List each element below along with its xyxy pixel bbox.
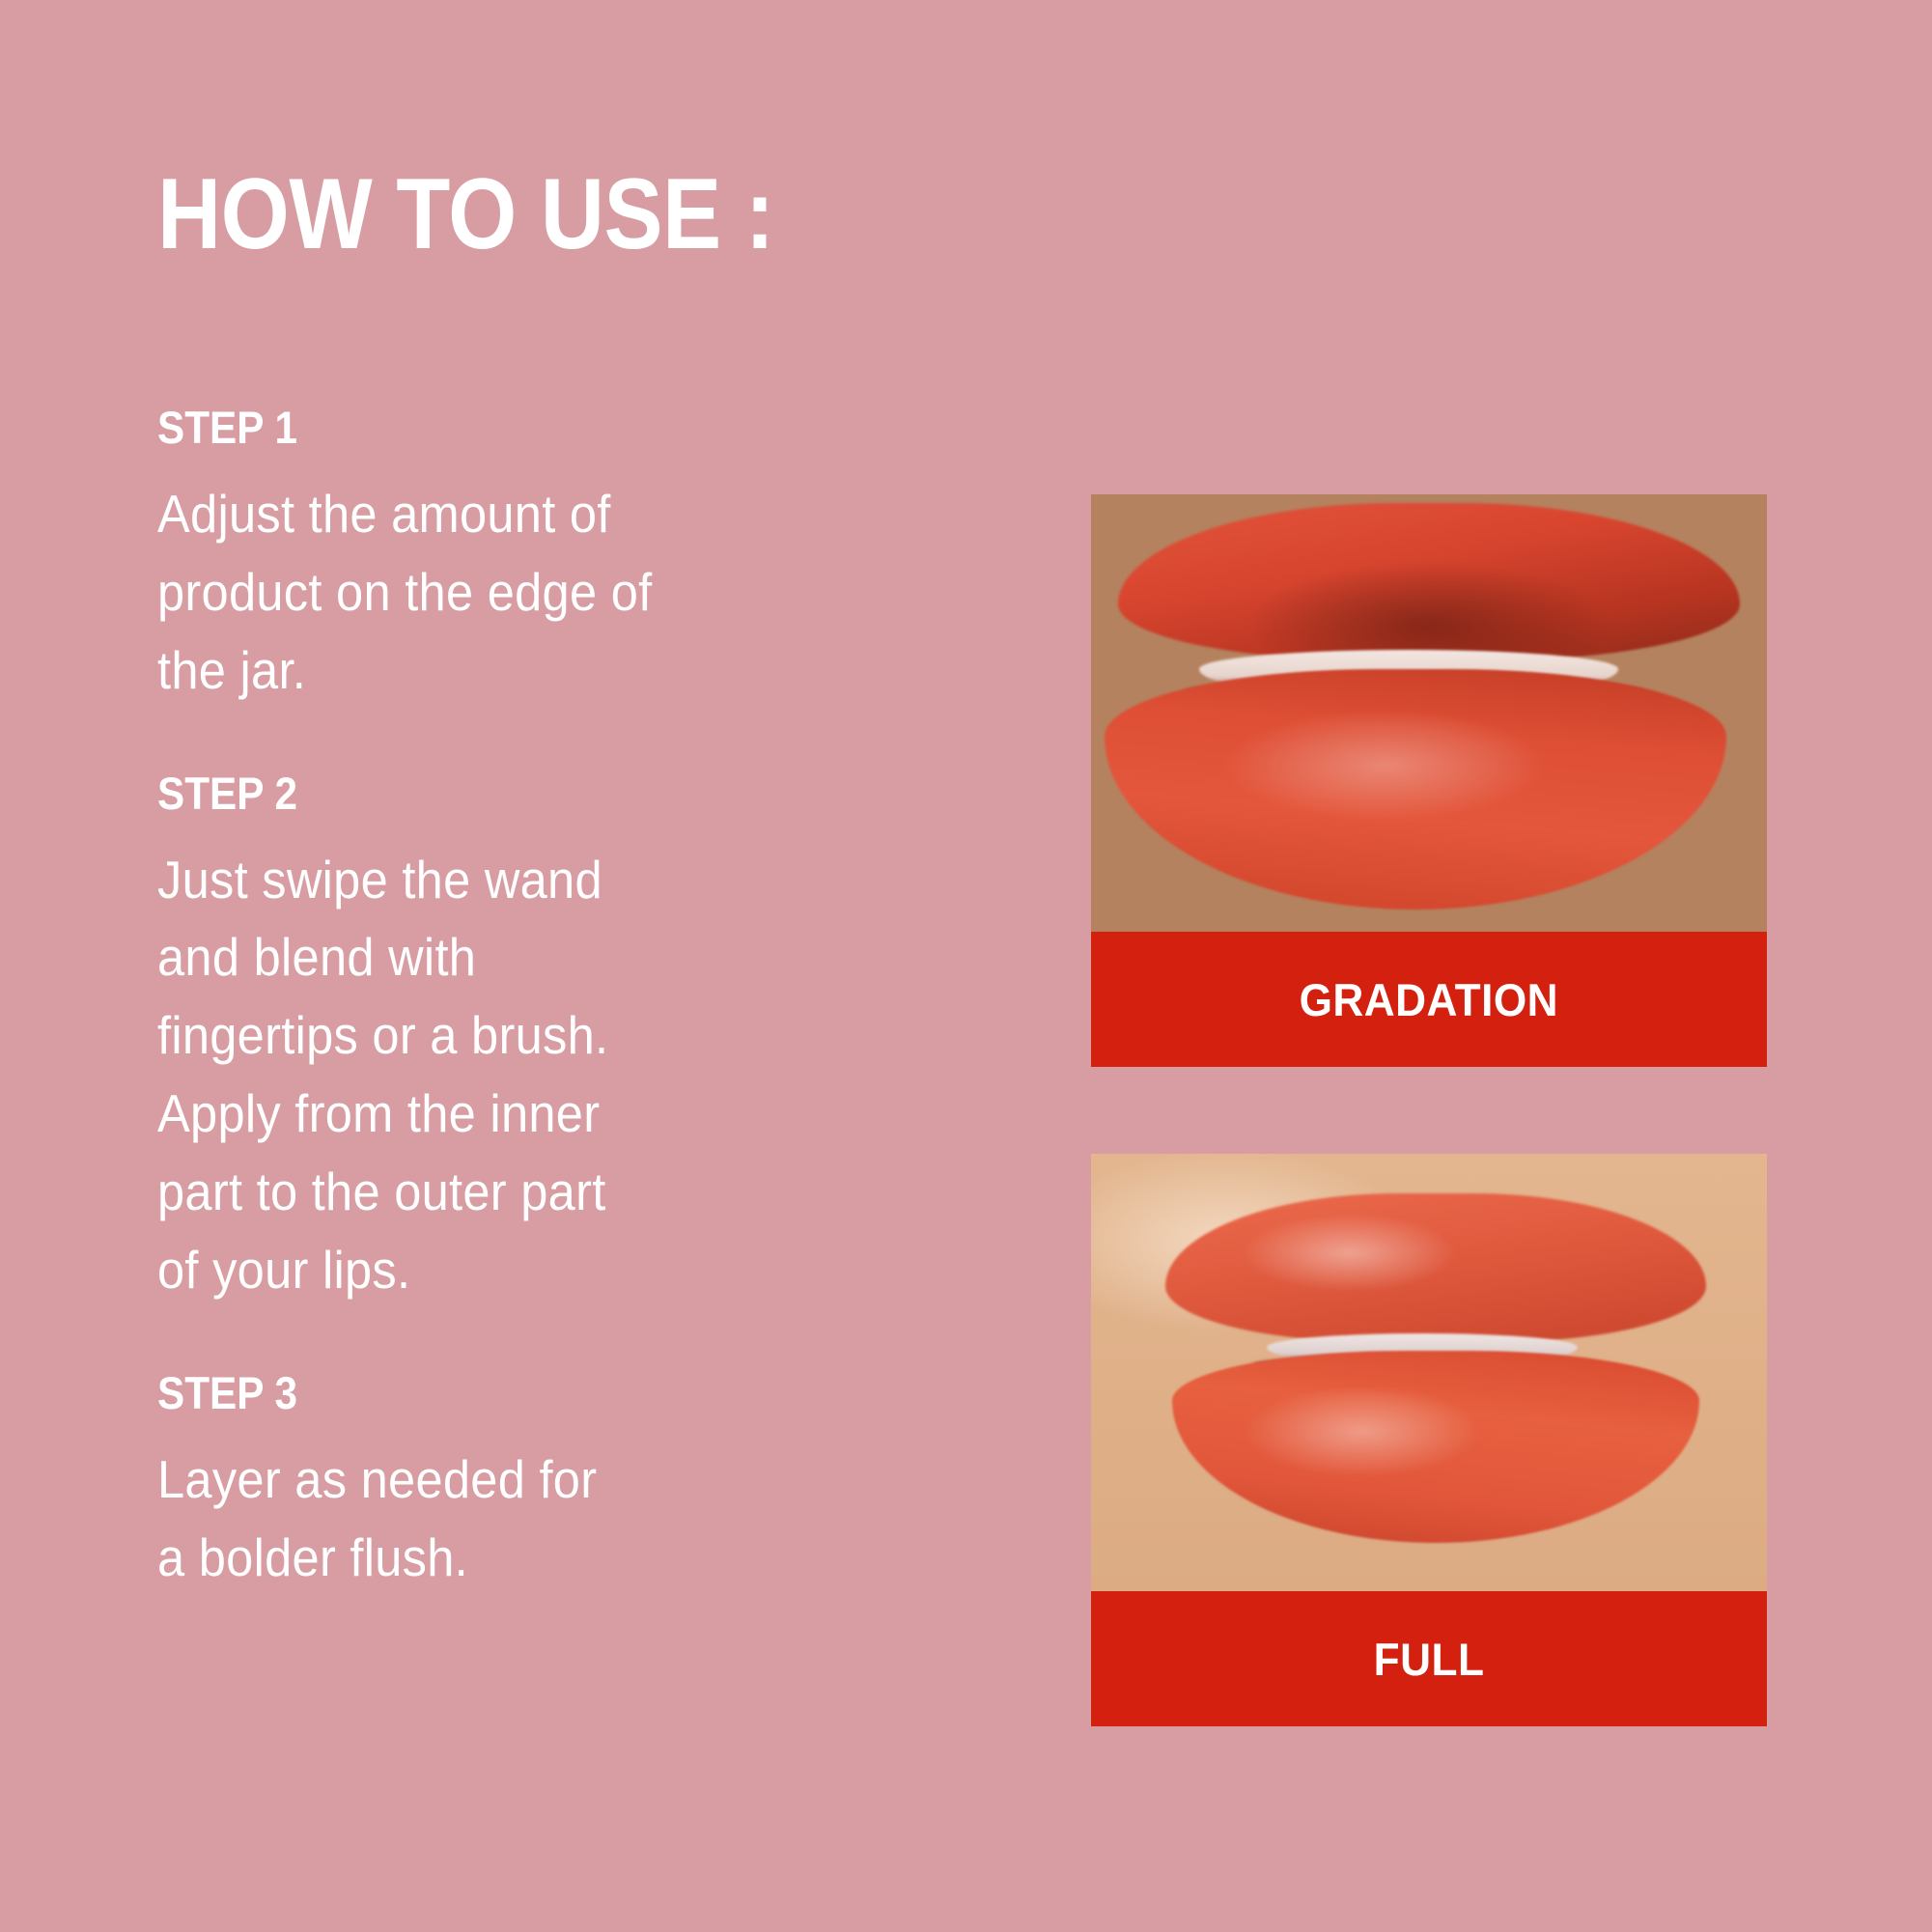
how-to-use-panel: HOW TO USE : STEP 1 Adjust the amount of…: [0, 0, 1932, 1932]
steps-list: STEP 1 Adjust the amount of product on t…: [157, 402, 988, 1596]
caption-bar-full: FULL: [1091, 1591, 1767, 1726]
lower-lip-shape: [1105, 669, 1726, 910]
step-2-label: STEP 2: [157, 768, 905, 820]
step-item: STEP 1 Adjust the amount of product on t…: [157, 402, 988, 710]
step-3-label: STEP 3: [157, 1367, 905, 1419]
step-1-label: STEP 1: [157, 402, 905, 454]
upper-lip-shape: [1118, 503, 1740, 660]
step-2-body: Just swipe the wand and blend with finge…: [157, 841, 921, 1309]
lips-photo-full: [1091, 1154, 1767, 1591]
step-item: STEP 2 Just swipe the wand and blend wit…: [157, 768, 988, 1309]
lips-photo-gradation: [1091, 494, 1767, 932]
step-item: STEP 3 Layer as needed for a bolder flus…: [157, 1367, 988, 1597]
step-1-body: Adjust the amount of product on the edge…: [157, 475, 921, 710]
lower-lip-shape: [1172, 1351, 1699, 1543]
caption-bar-gradation: GRADATION: [1091, 932, 1767, 1067]
step-3-body: Layer as needed for a bolder flush.: [157, 1441, 921, 1597]
caption-label-full: FULL: [1374, 1633, 1485, 1686]
upper-lip-shape: [1165, 1193, 1706, 1342]
shade-cards-column: GRADATION FULL: [1091, 494, 1767, 1726]
shade-card-full: FULL: [1091, 1154, 1767, 1726]
instructions-column: HOW TO USE : STEP 1 Adjust the amount of…: [157, 164, 988, 1596]
shade-card-gradation: GRADATION: [1091, 494, 1767, 1067]
caption-label-gradation: GRADATION: [1300, 973, 1558, 1026]
page-title: HOW TO USE :: [157, 164, 888, 265]
